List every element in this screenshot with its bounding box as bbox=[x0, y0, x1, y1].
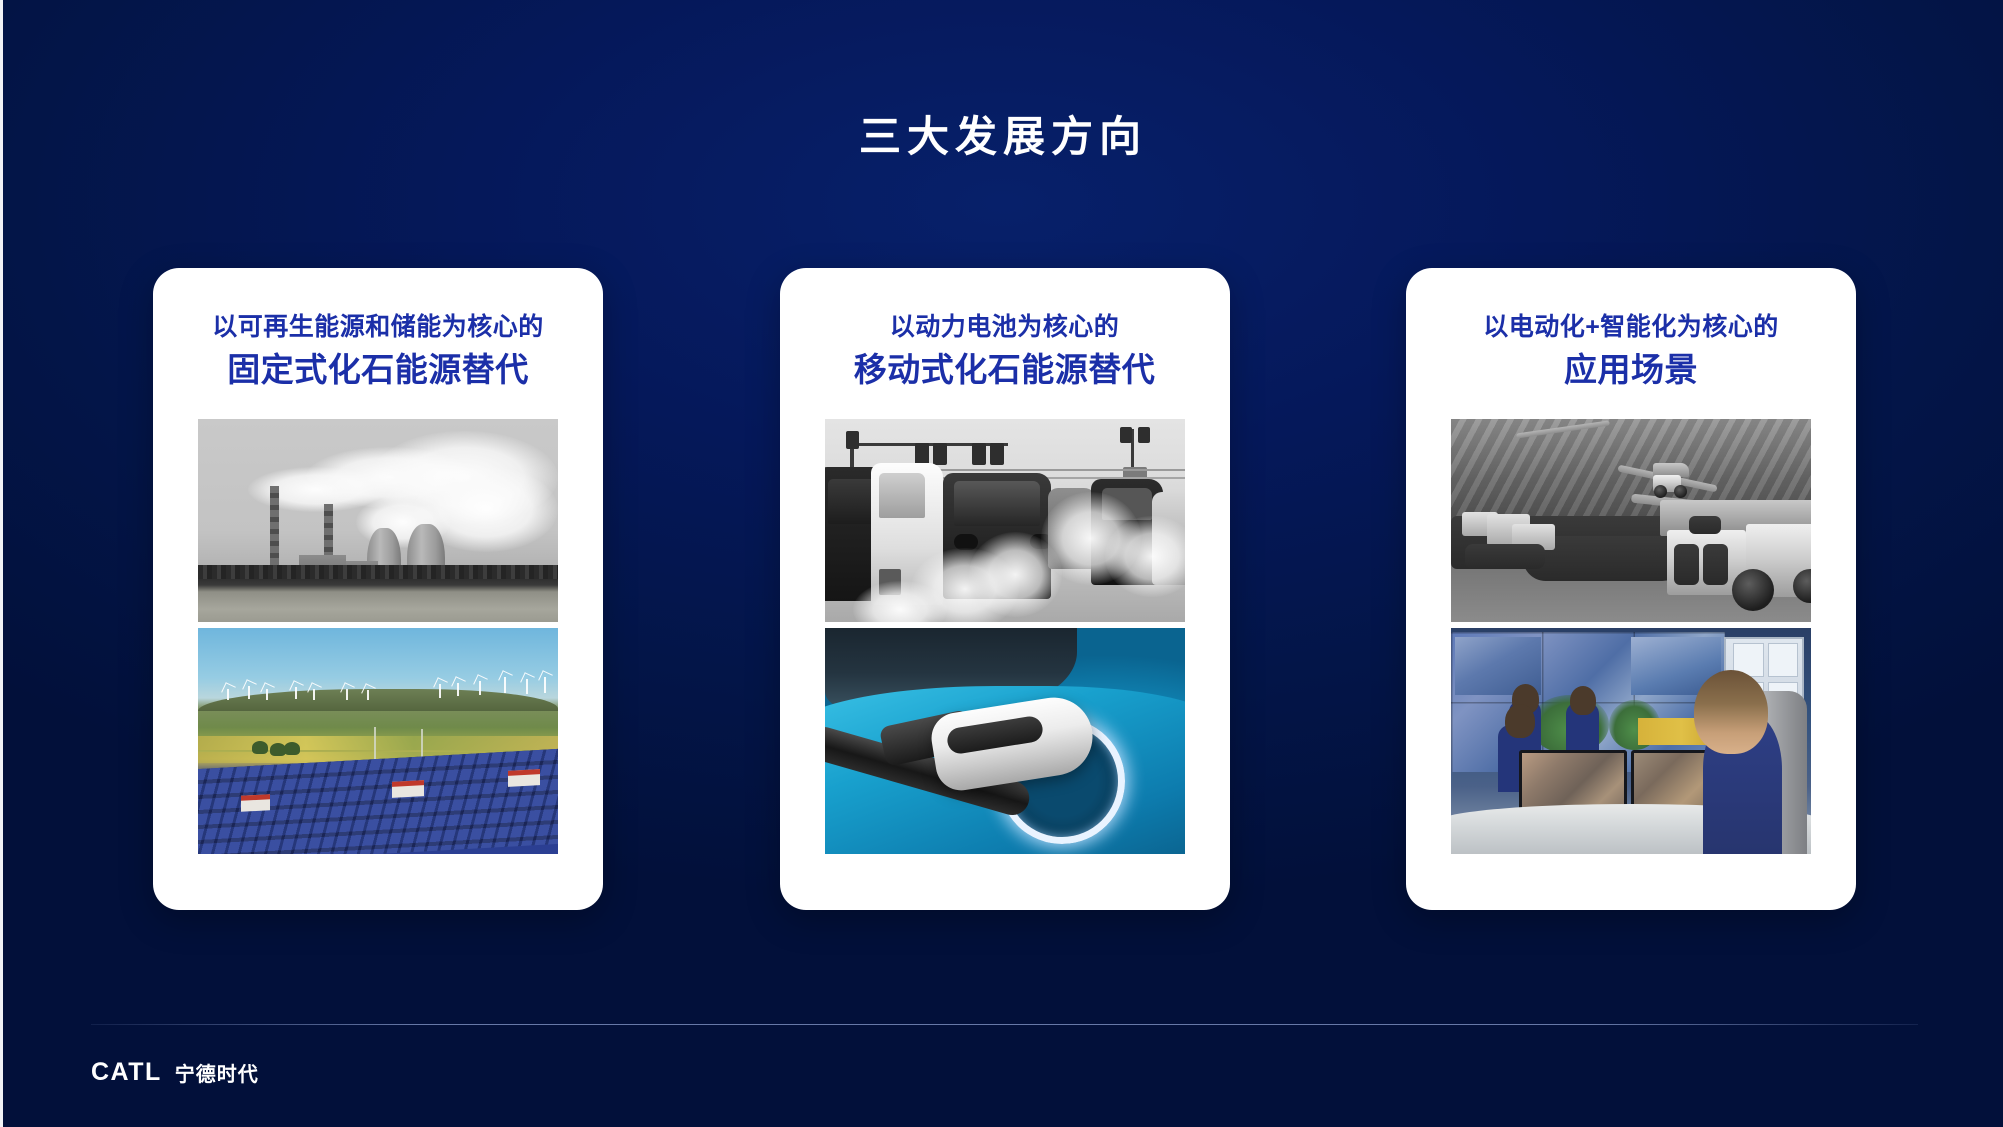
card-power-battery[interactable]: 以动力电池为核心的 移动式化石能源替代 bbox=[780, 268, 1230, 910]
logo-wordmark: CATL bbox=[91, 1058, 162, 1087]
card-subtitle: 以动力电池为核心的 bbox=[806, 312, 1204, 343]
photo-stack bbox=[198, 419, 558, 854]
solar-wind-farm-photo bbox=[198, 628, 558, 854]
card-renewable-storage[interactable]: 以可再生能源和储能为核心的 固定式化石能源替代 bbox=[153, 268, 603, 910]
card-heading: 以动力电池为核心的 移动式化石能源替代 bbox=[806, 312, 1204, 391]
logo-chinese-name: 宁德时代 bbox=[175, 1058, 259, 1087]
photo-stack bbox=[1451, 419, 1811, 854]
traffic-exhaust-photo bbox=[825, 419, 1185, 622]
card-title: 固定式化石能源替代 bbox=[179, 349, 577, 390]
footer-divider bbox=[91, 1024, 1918, 1025]
cards-row: 以可再生能源和储能为核心的 固定式化石能源替代 bbox=[153, 268, 1856, 910]
slide-root: 三大发展方向 以可再生能源和储能为核心的 固定式化石能源替代 bbox=[0, 0, 2003, 1127]
ev-charging-plug-photo bbox=[825, 628, 1185, 854]
card-title: 移动式化石能源替代 bbox=[806, 349, 1204, 390]
card-heading: 以可再生能源和储能为核心的 固定式化石能源替代 bbox=[179, 312, 577, 391]
catl-logo: CATL 宁德时代 bbox=[91, 1058, 259, 1087]
card-heading: 以电动化+智能化为核心的 应用场景 bbox=[1432, 312, 1830, 391]
card-subtitle: 以电动化+智能化为核心的 bbox=[1432, 312, 1830, 343]
card-electrification-intelligence[interactable]: 以电动化+智能化为核心的 应用场景 bbox=[1406, 268, 1856, 910]
card-title: 应用场景 bbox=[1432, 349, 1830, 390]
page-title: 三大发展方向 bbox=[3, 112, 2003, 162]
photo-stack bbox=[825, 419, 1185, 854]
card-subtitle: 以可再生能源和储能为核心的 bbox=[179, 312, 577, 343]
remote-control-room-photo bbox=[1451, 628, 1811, 854]
coal-power-plant-photo bbox=[198, 419, 558, 622]
mining-site-trucks-photo bbox=[1451, 419, 1811, 622]
